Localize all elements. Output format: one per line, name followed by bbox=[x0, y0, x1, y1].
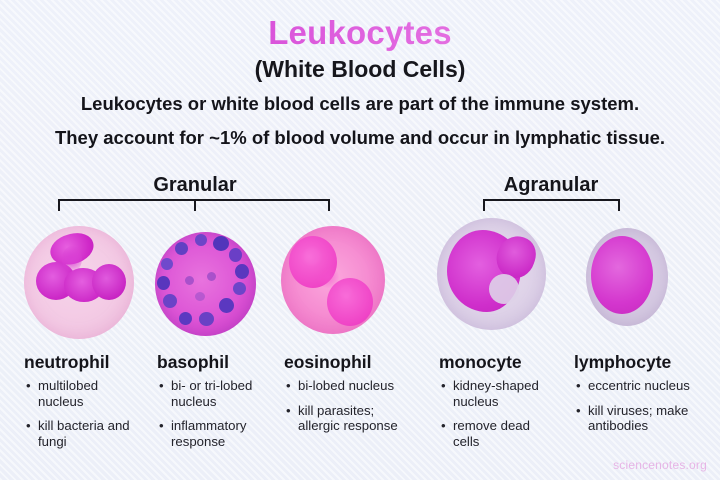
bracket-bar bbox=[483, 199, 620, 201]
intro-line-2: They account for ~1% of blood volume and… bbox=[0, 127, 720, 149]
infographic-root: Leukocytes (White Blood Cells) Leukocyte… bbox=[0, 0, 720, 480]
cell-bullets-basophil: bi- or tri-lobed nucleus inflammatory re… bbox=[159, 378, 277, 458]
cell-label-eosinophil: eosinophil bbox=[284, 352, 372, 373]
intro-line-1: Leukocytes or white blood cells are part… bbox=[0, 93, 720, 115]
granule bbox=[229, 248, 242, 262]
granule bbox=[195, 292, 205, 301]
granule bbox=[157, 276, 170, 290]
cell-bullets-lymphocyte: eccentric nucleus kill viruses; make ant… bbox=[576, 378, 706, 443]
granule bbox=[233, 282, 246, 295]
bullet-item: kidney-shaped nucleus bbox=[441, 378, 555, 409]
bracket-granular bbox=[58, 199, 330, 211]
bullet-item: kill viruses; make antibodies bbox=[576, 403, 706, 434]
bracket-agranular bbox=[483, 199, 620, 211]
cell-label-neutrophil: neutrophil bbox=[24, 352, 110, 373]
cell-label-monocyte: monocyte bbox=[439, 352, 522, 373]
bullet-item: eccentric nucleus bbox=[576, 378, 706, 394]
bullet-item: remove dead cells bbox=[441, 418, 555, 449]
nucleus-hilum bbox=[489, 274, 519, 304]
granule bbox=[199, 312, 214, 326]
granule bbox=[161, 258, 173, 270]
bracket-tick-right bbox=[618, 199, 620, 211]
bullet-item: bi- or tri-lobed nucleus bbox=[159, 378, 277, 409]
group-label-granular: Granular bbox=[115, 174, 275, 197]
group-label-agranular: Agranular bbox=[471, 174, 631, 197]
cell-bullets-eosinophil: bi-lobed nucleus kill parasites; allergi… bbox=[286, 378, 418, 443]
granule bbox=[163, 294, 177, 308]
bullet-item: kill parasites; allergic response bbox=[286, 403, 418, 434]
page-subtitle: (White Blood Cells) bbox=[0, 56, 720, 83]
bullet-item: inflammatory response bbox=[159, 418, 277, 449]
granule bbox=[185, 276, 194, 285]
nucleus-bridge bbox=[62, 246, 82, 272]
nucleus-round bbox=[591, 236, 653, 314]
bullet-item: kill bacteria and fungi bbox=[26, 418, 138, 449]
cell-label-lymphocyte: lymphocyte bbox=[574, 352, 671, 373]
nucleus-lobe bbox=[92, 264, 126, 300]
granule bbox=[235, 264, 249, 279]
bracket-tick-left bbox=[483, 199, 485, 211]
cell-image-monocyte bbox=[437, 218, 546, 330]
watermark: sciencenotes.org bbox=[613, 458, 707, 472]
nucleus-bridge bbox=[317, 266, 339, 288]
cell-bullets-monocyte: kidney-shaped nucleus remove dead cells bbox=[441, 378, 555, 458]
cell-image-eosinophil bbox=[281, 226, 385, 334]
granule bbox=[219, 298, 234, 313]
cell-label-basophil: basophil bbox=[157, 352, 229, 373]
bullet-item: multilobed nucleus bbox=[26, 378, 138, 409]
cell-image-neutrophil bbox=[24, 226, 134, 339]
granule bbox=[213, 236, 229, 251]
granule bbox=[179, 312, 192, 325]
cell-image-basophil bbox=[155, 232, 256, 336]
page-title: Leukocytes bbox=[0, 14, 720, 52]
cell-image-lymphocyte bbox=[586, 228, 668, 326]
granule bbox=[207, 272, 216, 281]
bracket-tick-left bbox=[58, 199, 60, 211]
bracket-tick-mid bbox=[194, 199, 196, 211]
bracket-tick-right bbox=[328, 199, 330, 211]
bullet-item: bi-lobed nucleus bbox=[286, 378, 418, 394]
granule bbox=[175, 242, 188, 255]
granule bbox=[195, 234, 207, 246]
cell-bullets-neutrophil: multilobed nucleus kill bacteria and fun… bbox=[26, 378, 138, 458]
